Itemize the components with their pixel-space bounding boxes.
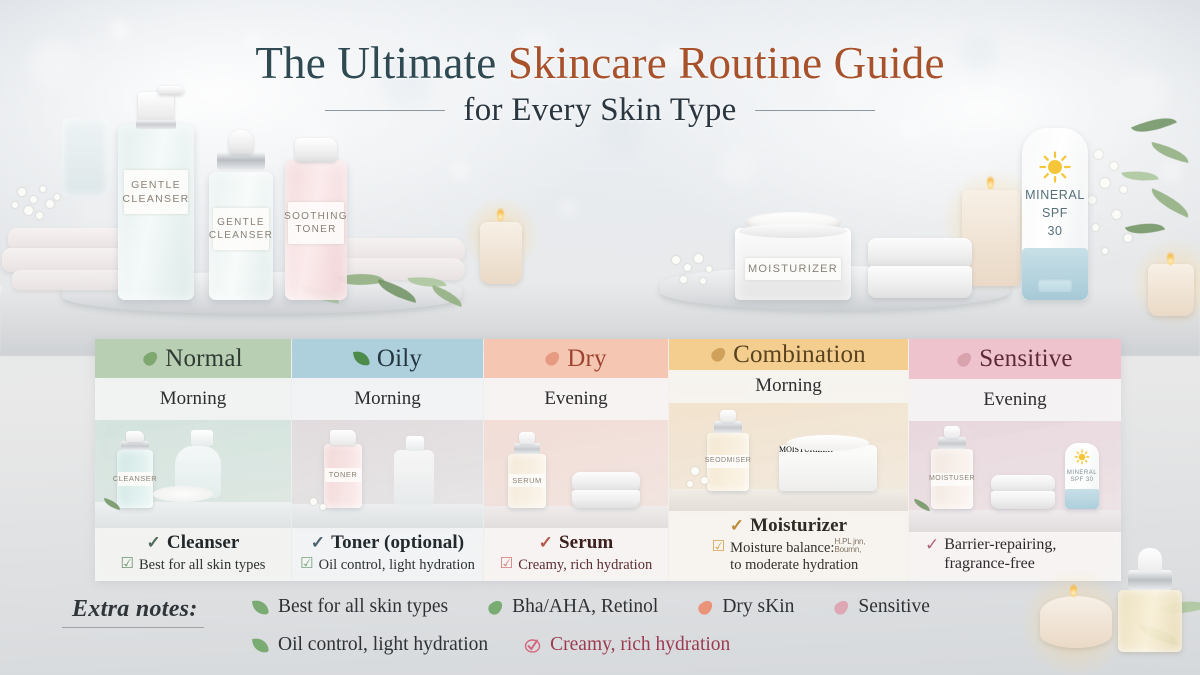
column-footer-oily: ✓ Toner (optional) ☑ Oil control, light … (292, 528, 483, 581)
extra-note-item[interactable]: Bha/AHA, Retinol (488, 596, 658, 618)
step-label-line2: fragrance-free (944, 555, 1056, 574)
step-row: ✓ Toner (optional) (311, 532, 464, 554)
check-icon: ✓ (311, 534, 325, 551)
frosted-bottle (394, 450, 434, 506)
note-row: ☑ Creamy, rich hydration (500, 557, 652, 574)
label-line-1: GENTLE (131, 178, 181, 192)
droplet-icon (545, 349, 560, 368)
leaf-icon (252, 636, 269, 655)
mini-moisturizer-jar: MOISTURIZER (779, 445, 877, 491)
spf-cap (1022, 248, 1088, 300)
extra-note-label: Best for all skin types (278, 596, 448, 618)
droplet-icon (488, 598, 503, 617)
column-title: Combination (733, 341, 866, 369)
column-time-normal: Morning (95, 378, 291, 419)
pump-nozzle (191, 430, 213, 446)
check-icon: ✓ (147, 534, 161, 551)
mini-spf-tube: MINERAL SPF 30 (1065, 443, 1099, 509)
page-title: The Ultimate Skincare Routine Guide (0, 40, 1200, 88)
note-label: Best for all skin types (139, 557, 265, 574)
droplet-icon (711, 345, 726, 364)
check-box-icon: ☑ (712, 540, 725, 555)
extra-note-label: Sensitive (858, 596, 930, 618)
column-footer-dry: ✓ Serum ☑ Creamy, rich hydration (484, 528, 668, 581)
column-image-sensitive: MOISTUSER M (909, 421, 1121, 532)
cream-swirl (787, 435, 869, 451)
column-image-combination: SEODMISER MOISTURIZER (669, 403, 908, 511)
column-time-sensitive: Evening (909, 379, 1121, 421)
table-column-sensitive[interactable]: Sensitive Evening MOISTUSER (909, 339, 1121, 581)
mini-product-label: CLEANSER (118, 472, 152, 486)
note-row: ☑ Moisture balance: H.PL jnn, Bournn, to… (712, 540, 866, 574)
extra-note-item[interactable]: Creamy, rich hydration (524, 634, 730, 656)
check-icon: ✓ (730, 517, 744, 534)
column-title: Oily (377, 345, 422, 373)
page-subtitle-row: for Every Skin Type (0, 92, 1200, 129)
note-label: Moisture balance: (730, 540, 834, 556)
label-line-2: SPF (1022, 204, 1088, 222)
check-oval-icon (524, 637, 541, 654)
mini-product-label: MINERAL SPF 30 (1066, 467, 1098, 487)
droplet-icon (834, 598, 849, 617)
serum-collar (1128, 570, 1172, 590)
pump-head (406, 436, 424, 451)
leaf-icon (353, 349, 370, 368)
extra-notes-row-2: Oil control, light hydration Creamy, ric… (252, 634, 730, 656)
column-title: Normal (165, 345, 243, 373)
mini-product-label: SERUM (509, 474, 545, 487)
jar-rim (739, 224, 847, 238)
step-label: Cleanser (167, 532, 240, 554)
column-image-normal: CLEANSER (95, 420, 291, 528)
infographic-canvas: GENTLE CLEANSER GENTLE CLEANSER SOOTHING… (0, 0, 1200, 675)
serum-dropper-cap (1138, 548, 1162, 572)
column-header-sensitive: Sensitive (909, 339, 1121, 379)
step-row: ✓ Barrier-repairing, fragrance-free (925, 536, 1056, 574)
product-label-soothing-toner: SOOTHING TONER (288, 202, 344, 244)
extra-note-item[interactable]: Best for all skin types (252, 596, 448, 618)
note-label: Creamy, rich hydration (518, 557, 652, 574)
column-title: Dry (567, 345, 606, 373)
sun-icon (1074, 449, 1090, 465)
product-moisturizer-jar: MOISTURIZER (735, 228, 851, 300)
label-line-1: MOISTURIZER (748, 262, 838, 277)
column-time-dry: Evening (484, 378, 668, 419)
extra-notes-title: Extra notes: (72, 596, 198, 623)
extra-note-item[interactable]: Sensitive (834, 596, 930, 618)
powder-mound (153, 486, 213, 502)
skin-type-table: Normal Morning CLEANSER ✓ Clean (95, 339, 1121, 581)
extra-notes-section: Extra notes: Best for all skin types Bha… (72, 592, 1082, 664)
product-serum-bottle-bottom (1118, 590, 1182, 652)
droplet-icon (143, 349, 158, 368)
table-column-combination[interactable]: Combination Morning SEODMISER MOISTURIZE… (669, 339, 909, 581)
extra-notes-row-1: Best for all skin types Bha/AHA, Retinol… (252, 596, 930, 618)
column-header-normal: Normal (95, 339, 291, 378)
leaf-icon (252, 598, 269, 617)
product-mineral-spf-tube: MINERAL SPF 30 (1022, 128, 1088, 300)
mini-product-label: TONER (325, 468, 361, 482)
column-image-dry: SERUM (484, 420, 668, 528)
check-icon: ✓ (925, 536, 939, 553)
note-label-line2: to moderate hydration (730, 557, 865, 574)
label-line-2: TONER (295, 223, 336, 237)
mini-product-label: MOISTUSER (931, 473, 973, 486)
column-image-oily: TONER (292, 420, 483, 528)
label-line-1: MINERAL (1022, 186, 1088, 204)
note-row: ☑ Best for all skin types (121, 557, 266, 574)
step-label-block: Barrier-repairing, fragrance-free (944, 536, 1056, 574)
check-icon: ✓ (539, 534, 553, 551)
label-line-3: 30 (1022, 222, 1088, 240)
mini-product-label: SEODMISER (707, 455, 749, 468)
table-column-dry[interactable]: Dry Evening SERUM ✓ Serum (484, 339, 669, 581)
column-title: Sensitive (979, 345, 1072, 373)
column-header-oily: Oily (292, 339, 483, 378)
column-footer-normal: ✓ Cleanser ☑ Best for all skin types (95, 528, 291, 581)
check-box-icon: ☑ (121, 557, 134, 572)
extra-note-label: Oil control, light hydration (278, 634, 488, 656)
column-header-combination: Combination (669, 339, 908, 370)
product-label-gentle-cleanser-dropper: GENTLE CLEANSER (213, 208, 269, 250)
spf-cap-ridge (1038, 279, 1072, 292)
product-gentle-cleanser-dropper: GENTLE CLEANSER (209, 172, 273, 300)
extra-note-label: Creamy, rich hydration (550, 634, 730, 656)
step-label: Serum (559, 532, 613, 554)
note-label: Oil control, light hydration (319, 557, 475, 574)
extra-note-item[interactable]: Oil control, light hydration (252, 634, 488, 656)
step-label: Barrier-repairing, (944, 536, 1056, 555)
droplet-icon (957, 350, 972, 369)
note-row: ☑ Oil control, light hydration (300, 557, 475, 574)
check-box-icon: ☑ (500, 557, 513, 572)
check-box-icon: ☑ (300, 557, 313, 572)
label-line-2: CLEANSER (123, 192, 190, 206)
product-label-gentle-cleanser-pump: GENTLE CLEANSER (124, 170, 188, 214)
table-column-normal[interactable]: Normal Morning CLEANSER ✓ Clean (95, 339, 292, 581)
product-label-moisturizer: MOISTURIZER (745, 258, 841, 280)
column-time-oily: Morning (292, 378, 483, 419)
label-line-2: CLEANSER (209, 229, 273, 243)
product-soothing-toner: SOOTHING TONER (285, 160, 347, 300)
table-column-oily[interactable]: Oily Morning TONER ✓ Toner (optional) (292, 339, 484, 581)
step-row: ✓ Serum (539, 532, 614, 554)
note-label-block: Moisture balance: H.PL jnn, Bournn, to m… (730, 540, 865, 574)
step-label: Moisturizer (750, 515, 847, 537)
subtitle-rule-right (755, 110, 875, 112)
step-row: ✓ Cleanser (147, 532, 240, 554)
column-header-dry: Dry (484, 339, 668, 378)
white-jar-lower (991, 491, 1055, 509)
extra-note-label: Bha/AHA, Retinol (512, 596, 658, 618)
column-footer-combination: ✓ Moisturizer ☑ Moisture balance: H.PL j… (669, 511, 908, 581)
white-jar (572, 472, 640, 492)
step-row: ✓ Moisturizer (730, 515, 847, 537)
label-line-1: GENTLE (217, 216, 265, 230)
label-line-1: SOOTHING (284, 210, 348, 224)
extra-note-item[interactable]: Dry sKin (698, 596, 794, 618)
title-part-primary: The Ultimate (255, 38, 508, 88)
sun-icon (1038, 150, 1072, 184)
page-subtitle: for Every Skin Type (463, 92, 736, 129)
garbled-text: H.PL jnn, Bournn, (834, 538, 865, 554)
column-time-combination: Morning (669, 370, 908, 403)
product-label-mineral-spf: MINERAL SPF 30 (1022, 186, 1088, 240)
droplet-icon (698, 598, 713, 617)
white-jar-lower (572, 490, 640, 508)
subtitle-rule-left (325, 110, 445, 112)
step-label: Toner (optional) (331, 532, 464, 554)
garble-line-2: Bournn, (834, 546, 865, 554)
extra-note-label: Dry sKin (722, 596, 794, 618)
title-part-accent: Skincare Routine Guide (508, 38, 945, 88)
glass-vessel (62, 118, 108, 196)
product-gentle-cleanser-pump: GENTLE CLEANSER (118, 124, 194, 300)
